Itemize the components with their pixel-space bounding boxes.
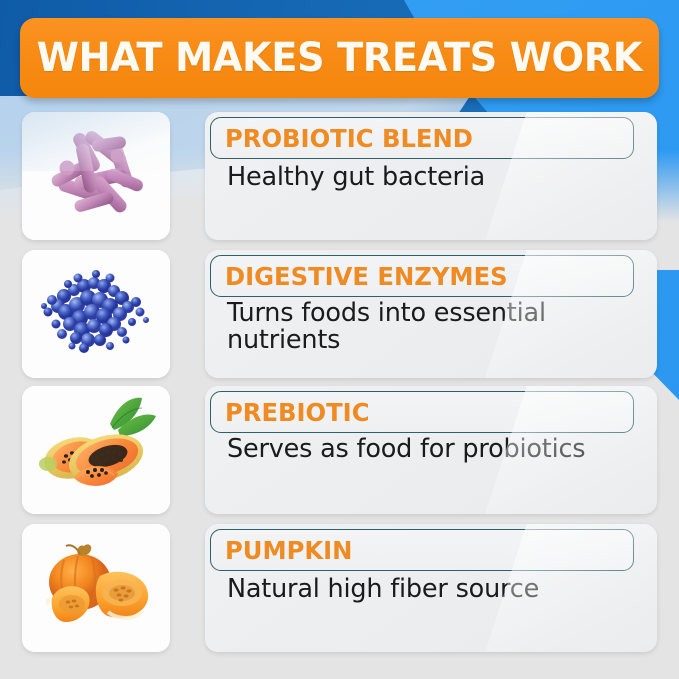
- feature-description: Natural high fiber source: [227, 576, 647, 603]
- feature-image-card: [22, 524, 170, 652]
- feature-description: Serves as food for probiotics: [227, 436, 647, 463]
- page-title: WHAT MAKES TREATS WORK: [37, 35, 642, 81]
- pumpkin-icon: [22, 524, 170, 652]
- feature-title-box: PROBIOTIC BLEND: [210, 117, 634, 159]
- feature-title: PROBIOTIC BLEND: [225, 126, 473, 151]
- feature-text-card: PREBIOTIC Serves as food for probiotics: [205, 386, 657, 514]
- feature-text-card: PROBIOTIC BLEND Healthy gut bacteria: [205, 112, 657, 240]
- probiotic-bacteria-icon: [22, 112, 170, 240]
- feature-title-box: PUMPKIN: [210, 529, 634, 571]
- feature-text-card: PUMPKIN Natural high fiber source: [205, 524, 657, 652]
- feature-title: PUMPKIN: [225, 538, 352, 563]
- feature-image-card: [22, 250, 170, 378]
- feature-title-box: PREBIOTIC: [210, 391, 634, 433]
- feature-title: PREBIOTIC: [225, 400, 369, 425]
- feature-title: DIGESTIVE ENZYMES: [225, 264, 508, 289]
- feature-title-box: DIGESTIVE ENZYMES: [210, 255, 634, 297]
- papaya-fruit-icon: [22, 386, 170, 514]
- digestive-enzyme-molecule-icon: [22, 250, 170, 378]
- feature-image-card: [22, 112, 170, 240]
- feature-image-card: [22, 386, 170, 514]
- feature-text-card: DIGESTIVE ENZYMES Turns foods into essen…: [205, 250, 657, 378]
- feature-description: Healthy gut bacteria: [227, 164, 647, 191]
- header-banner: WHAT MAKES TREATS WORK: [20, 18, 659, 98]
- infographic-canvas: WHAT MAKES TREATS WORK: [0, 0, 679, 679]
- feature-description: Turns foods into essential nutrients: [227, 300, 647, 353]
